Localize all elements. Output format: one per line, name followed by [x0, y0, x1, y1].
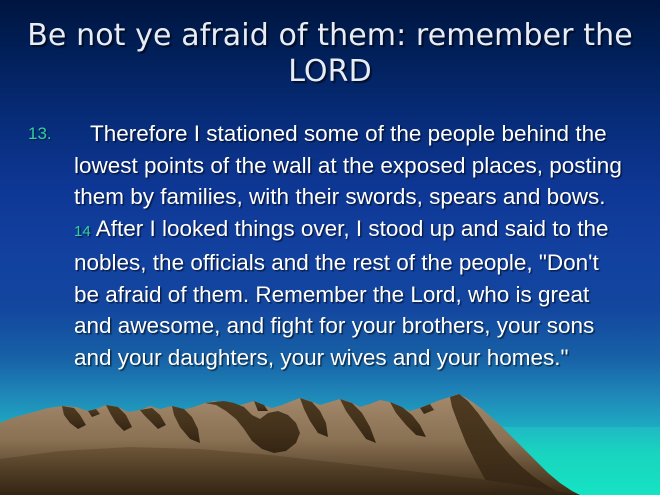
scripture-text: Therefore I stationed some of the people…: [74, 118, 628, 373]
landscape-graphic: [0, 385, 660, 495]
inline-verse-number: 14: [74, 223, 91, 240]
verse-number-marker: 13.: [28, 118, 74, 150]
title-line-2: LORD: [26, 54, 634, 90]
slide-title: Be not ye afraid of them: remember the L…: [26, 18, 634, 90]
scripture-text-part-1: Therefore I stationed some of the people…: [74, 121, 622, 209]
scripture-text-part-2: After I looked things over, I stood up a…: [74, 216, 609, 370]
slide-body: 13. Therefore I stationed some of the pe…: [28, 118, 628, 373]
title-line-1: Be not ye afraid of them: remember the: [26, 18, 634, 54]
scripture-paragraph: 13. Therefore I stationed some of the pe…: [28, 118, 628, 373]
presentation-slide: Be not ye afraid of them: remember the L…: [0, 0, 660, 495]
